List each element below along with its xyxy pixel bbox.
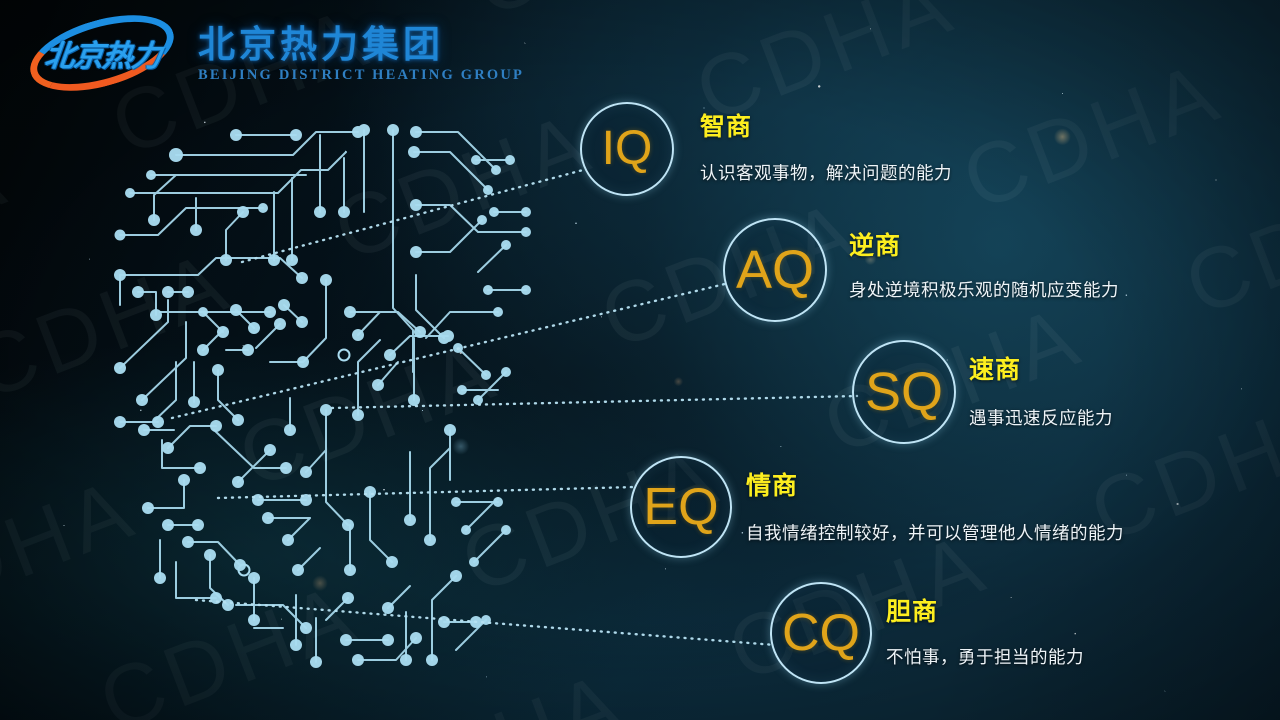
quotient-bubble-sq[interactable]: SQ [852,340,956,444]
quotient-code-eq: EQ [643,481,718,533]
quotient-bubble-iq[interactable]: IQ [580,102,674,196]
quotient-bubble-eq[interactable]: EQ [630,456,732,558]
quotient-title-iq: 智商 [700,107,752,143]
quotient-code-cq: CQ [782,607,860,659]
quotient-desc-eq: 自我情绪控制较好，并可以管理他人情绪的能力 [746,520,1124,545]
circuit-brain-graphic [58,100,578,700]
company-name-cn: 北京热力集团 [198,26,524,65]
company-logo: 北京热力 北京热力集团 BEIJING DISTRICT HEATING GRO… [22,14,524,92]
quotient-desc-sq: 遇事迅速反应能力 [969,405,1113,430]
quotient-title-eq: 情商 [746,466,798,502]
quotient-desc-iq: 认识客观事物，解决问题的能力 [700,160,952,185]
quotient-title-sq: 速商 [969,350,1021,386]
quotient-bubble-aq[interactable]: AQ [723,218,827,322]
logo-wordmark: 北京热力集团 BEIJING DISTRICT HEATING GROUP [198,22,524,85]
company-name-en: BEIJING DISTRICT HEATING GROUP [198,67,524,84]
logo-mark-icon: 北京热力 [22,14,182,92]
logo-mark-label: 北京热力 [30,31,177,75]
slide-canvas: CDHACDHACDHACDHACDHA CDHACDHACDHACDHACDH… [0,0,1280,720]
quotient-code-iq: IQ [602,125,653,173]
quotient-desc-aq: 身处逆境积极乐观的随机应变能力 [849,277,1119,302]
quotient-desc-cq: 不怕事，勇于担当的能力 [886,644,1084,669]
quotient-title-cq: 胆商 [886,592,938,628]
quotient-code-aq: AQ [736,243,814,297]
quotient-title-aq: 逆商 [849,226,901,262]
quotient-code-sq: SQ [865,365,943,419]
quotient-bubble-cq[interactable]: CQ [770,582,872,684]
